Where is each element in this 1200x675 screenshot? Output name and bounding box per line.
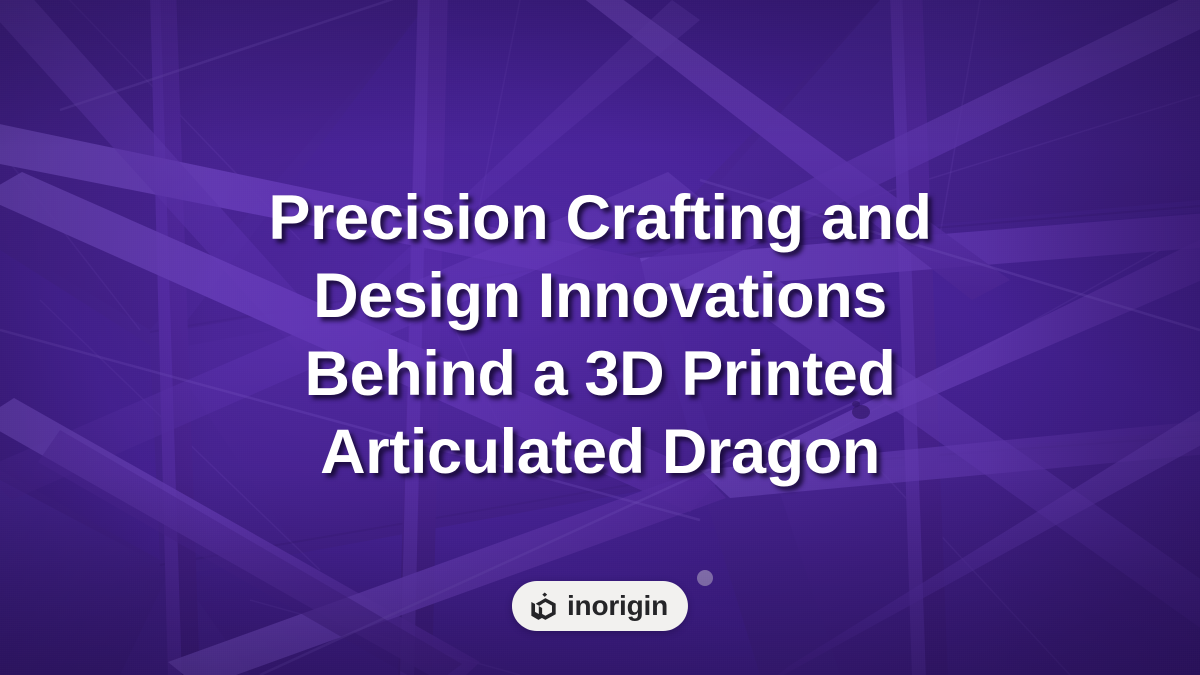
page-title: Precision Crafting and Design Innovation… (100, 179, 1100, 491)
brand-logo-badge[interactable]: inorigin (512, 581, 688, 631)
social-share-banner: Precision Crafting and Design Innovation… (0, 0, 1200, 675)
banner-content: Precision Crafting and Design Innovation… (0, 0, 1200, 675)
hexagon-cube-icon (528, 591, 559, 622)
brand-wordmark: inorigin (567, 592, 668, 620)
